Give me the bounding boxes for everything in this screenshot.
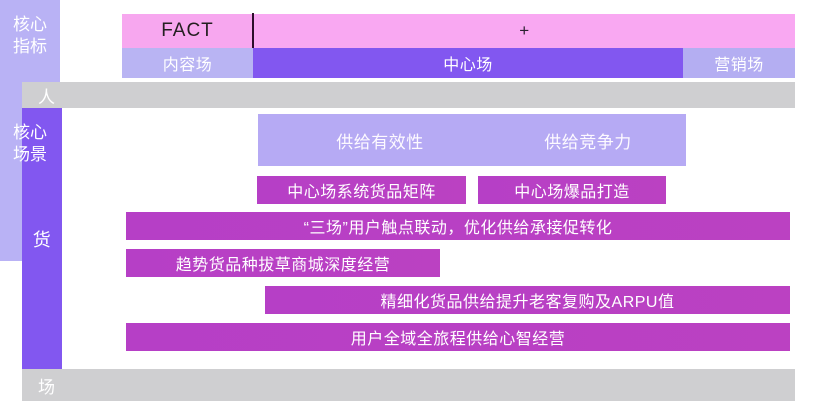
fact-plus-label: + <box>254 14 795 48</box>
scene-marketing-label: 营销场 <box>683 48 795 78</box>
metric-supply-competitiveness: 供给竞争力 <box>498 114 678 166</box>
metric-supply-effectiveness: 供给有效性 <box>290 114 470 166</box>
scene-box-trend-goods-mall[interactable]: 趋势货品种拔草商城深度经营 <box>126 249 440 277</box>
scene-content-label: 内容场 <box>122 48 253 78</box>
axis-top-people: 人 <box>22 82 795 108</box>
scene-box-three-scene-linkage[interactable]: “三场”用户触点联动，优化供给承接促转化 <box>126 212 790 240</box>
scene-box-full-journey-mind[interactable]: 用户全域全旅程供给心智经营 <box>126 323 790 351</box>
metrics-bar: 供给有效性 供给竞争力 <box>258 114 686 166</box>
content-panel: 供给有效性 供给竞争力 中心场系统货品矩阵 中心场爆品打造 “三场”用户触点联动… <box>122 108 795 369</box>
rail-group-scenes-line2: 场景 <box>13 144 47 166</box>
rail-group-scenes-line1: 核心 <box>13 122 47 144</box>
scene-center-label: 中心场 <box>253 48 683 78</box>
axis-bottom-scene: 场 <box>22 369 795 401</box>
scene-box-center-hit-product[interactable]: 中心场爆品打造 <box>478 176 666 204</box>
diagram-canvas: FACT + 内容场 中心场 营销场 人 场 货 核心 指标 核心 场景 供给有… <box>0 0 832 418</box>
rail-group-scenes: 核心 场景 <box>0 118 60 170</box>
rail-group-metrics-line2: 指标 <box>13 36 47 58</box>
header-divider <box>252 13 254 49</box>
scene-box-center-matrix[interactable]: 中心场系统货品矩阵 <box>257 176 466 204</box>
scene-box-refined-supply-arpu[interactable]: 精细化货品供给提升老客复购及ARPU值 <box>265 286 790 314</box>
rail-group-metrics-line1: 核心 <box>13 14 47 36</box>
fact-model-label: FACT <box>122 14 253 48</box>
rail-group-metrics: 核心 指标 <box>0 10 60 62</box>
